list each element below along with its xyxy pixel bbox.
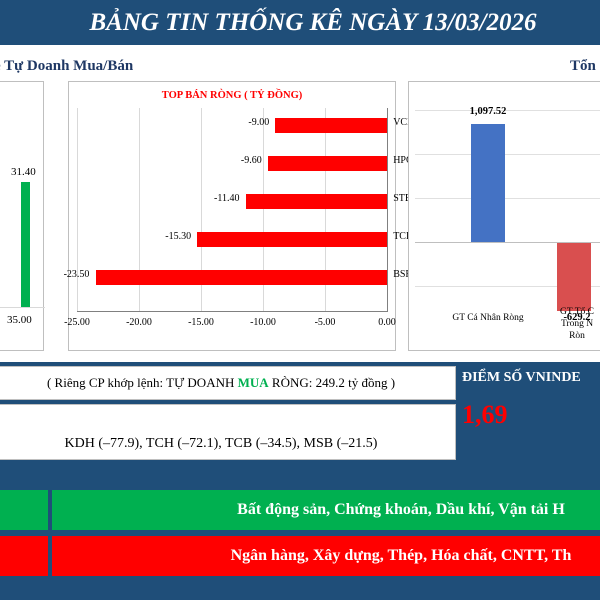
sector-text-green: Bất động sản, Chứng khoán, Dầu khí, Vận … — [151, 501, 565, 519]
left-chart-axis — [0, 307, 45, 308]
left-chart-bar — [21, 182, 30, 307]
top-ban-rong-chart-panel: TOP BÁN RÒNG ( TỶ ĐỒNG) -9.00 -9.60 -11.… — [68, 81, 396, 351]
bar-value-hpg: -9.60 — [241, 155, 262, 166]
bar-stb — [246, 194, 387, 209]
summary-suffix: RÒNG: 249.2 tỷ đồng ) — [269, 375, 395, 390]
summary-mua: MUA — [238, 375, 269, 390]
header-bar: BẢNG TIN THỐNG KÊ NGÀY 13/03/2026 — [0, 0, 600, 45]
xtick-minus25: -25.00 — [64, 317, 90, 328]
gt-rong-plot-area: 1,097.52 -629.2 — [409, 92, 600, 304]
bar-vcb — [275, 118, 387, 133]
summary-section: ( Riêng CP khớp lệnh: TỰ DOANH MUA RÒNG:… — [0, 362, 600, 472]
bar-value-stb: -11.40 — [214, 193, 239, 204]
xtick-minus5: -5.00 — [315, 317, 336, 328]
bar-hpg — [268, 156, 387, 171]
bar-bsr — [96, 270, 387, 285]
bar-gt-ca-nhan-rong — [471, 124, 505, 242]
sector-tag-red — [0, 536, 48, 576]
charts-section: ê Tự Doanh Mua/Bán Tổn 00 31.40 00 35.00… — [0, 45, 600, 360]
left-chart-xtick-1: 35.00 — [7, 314, 32, 326]
top-sell-detail-text: KDH (–77.9), TCH (–72.1), TCB (–34.5), M… — [65, 412, 378, 452]
bar-gt-to-chuc-rong — [557, 243, 591, 311]
left-chart-panel: 00 31.40 00 35.00 — [0, 81, 44, 351]
tu-doanh-summary-box: ( Riêng CP khớp lệnh: TỰ DOANH MUA RÒNG:… — [0, 366, 456, 400]
vnindex-score-value: 1,69 — [462, 400, 600, 430]
sector-row-red: Ngân hàng, Xây dựng, Thép, Hóa chất, CNT… — [0, 536, 600, 576]
sector-text-red: Ngân hàng, Xây dựng, Thép, Hóa chất, CNT… — [145, 547, 572, 565]
rp-gridline-3 — [415, 198, 600, 199]
top-sell-detail-box: KDH (–77.9), TCH (–72.1), TCB (–34.5), M… — [0, 404, 456, 460]
left-panel-title: ê Tự Doanh Mua/Bán — [0, 58, 133, 75]
vnindex-score-title: ĐIỂM SỐ VNINDE — [462, 370, 600, 386]
top-ban-rong-chart-title: TOP BÁN RÒNG ( TỶ ĐỒNG) — [69, 90, 395, 101]
x-axis-line — [77, 311, 387, 312]
xtick-zero: 0.00 — [378, 317, 396, 328]
bar-value-bsr: -23.50 — [64, 269, 90, 280]
xtick-minus15: -15.00 — [188, 317, 214, 328]
sector-bar-red: Ngân hàng, Xây dựng, Thép, Hóa chất, CNT… — [52, 536, 600, 576]
bar-tcb — [197, 232, 387, 247]
baseline-zero — [387, 108, 388, 312]
bar-value-vcb: -9.00 — [248, 117, 269, 128]
gt-rong-chart-panel: 1,097.52 -629.2 GT Cá Nhân Ròng GT Tổ C … — [408, 81, 600, 351]
sectors-section: Bất động sản, Chứng khoán, Dầu khí, Vận … — [0, 472, 600, 600]
left-chart-value-label: 31.40 — [11, 166, 36, 178]
rp-gridline-2 — [415, 154, 600, 155]
bar-value-tcb: -15.30 — [165, 231, 191, 242]
xtick-minus10: -10.00 — [250, 317, 276, 328]
rp-cat-to-chuc: GT Tổ C Trong N Ròn — [560, 306, 594, 342]
rp-cat-ca-nhan: GT Cá Nhân Ròng — [452, 312, 523, 324]
top-ban-rong-plot-area: -9.00 -9.60 -11.40 -15.30 -23.50 VCB HPG… — [77, 108, 387, 312]
xtick-minus20: -20.00 — [126, 317, 152, 328]
summary-prefix: ( Riêng CP khớp lệnh: TỰ DOANH — [47, 375, 238, 390]
page-title: BẢNG TIN THỐNG KÊ NGÀY 13/03/2026 — [63, 9, 536, 37]
tu-doanh-summary-text: ( Riêng CP khớp lệnh: TỰ DOANH MUA RÒNG:… — [47, 375, 395, 391]
gridline-25 — [77, 108, 78, 312]
right-panel-title: Tổn — [570, 58, 596, 75]
sector-tag-green — [0, 490, 48, 530]
sector-row-green: Bất động sản, Chứng khoán, Dầu khí, Vận … — [0, 490, 600, 530]
rp-gridline-1 — [415, 110, 600, 111]
sector-bar-green: Bất động sản, Chứng khoán, Dầu khí, Vận … — [52, 490, 600, 530]
bar-value-gt-ca-nhan: 1,097.52 — [470, 106, 507, 117]
